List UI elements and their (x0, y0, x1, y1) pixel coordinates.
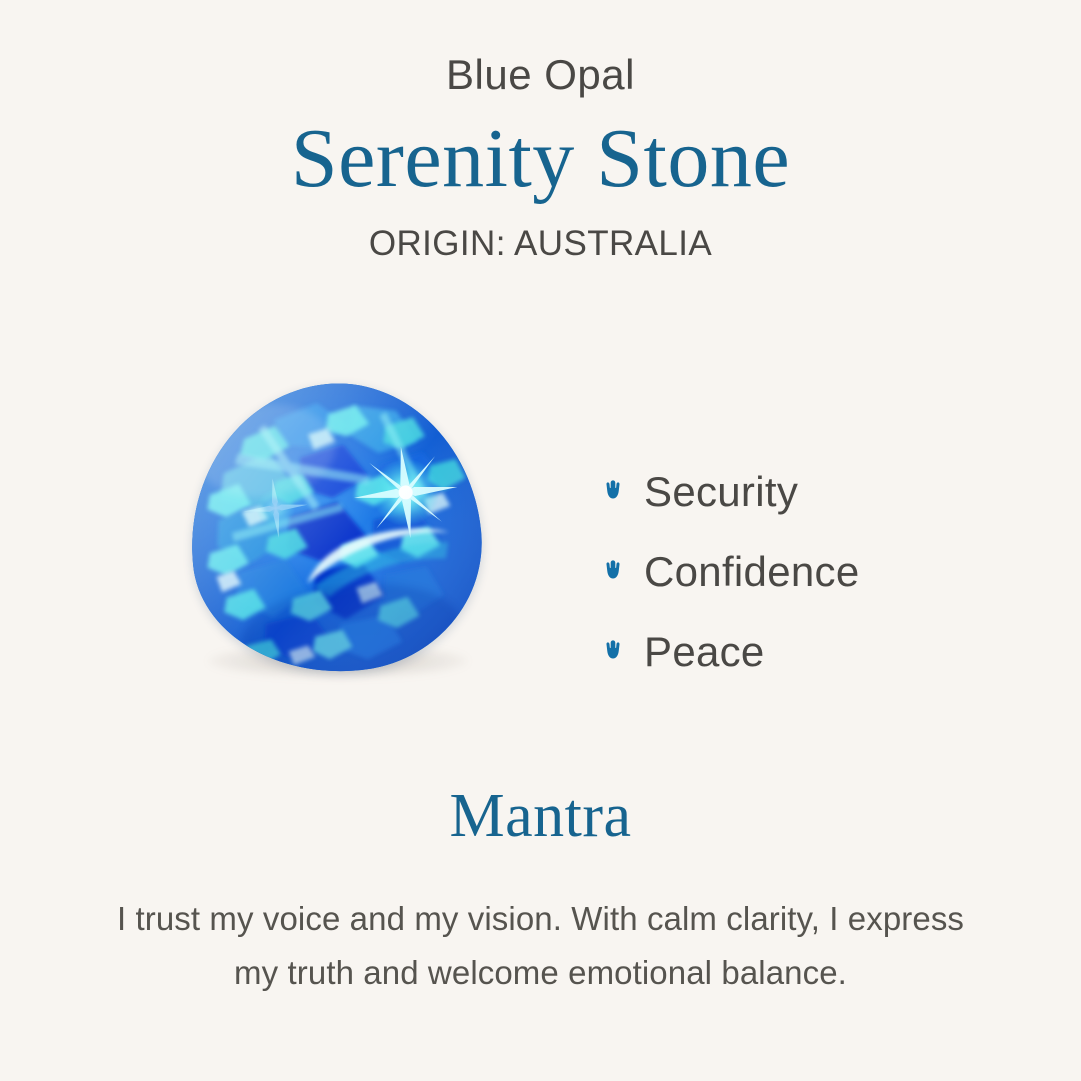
stone-and-properties-section: Security Confidence Peace (0, 372, 1081, 712)
list-item: Security (600, 452, 1020, 532)
property-label: Confidence (644, 548, 859, 596)
stone-properties-list: Security Confidence Peace (600, 452, 1020, 692)
gemstone-info-card: Blue Opal Serenity Stone ORIGIN: AUSTRAL… (0, 0, 1081, 1081)
hamsa-hand-icon (600, 477, 626, 507)
mantra-text: I trust my voice and my vision. With cal… (106, 892, 976, 999)
list-item: Peace (600, 612, 1020, 692)
hamsa-hand-icon (600, 637, 626, 667)
mantra-section: Mantra I trust my voice and my vision. W… (0, 782, 1081, 999)
stone-eyebrow-label: Blue Opal (0, 52, 1081, 98)
list-item: Confidence (600, 532, 1020, 612)
hamsa-hand-icon (600, 557, 626, 587)
property-label: Peace (644, 628, 765, 676)
blue-opal-gemstone (176, 370, 495, 687)
origin-label: ORIGIN: AUSTRALIA (0, 224, 1081, 264)
card-header: Blue Opal Serenity Stone ORIGIN: AUSTRAL… (0, 52, 1081, 264)
property-label: Security (644, 468, 798, 516)
gemstone-figure (178, 372, 498, 702)
page-title: Serenity Stone (0, 112, 1081, 206)
mantra-heading: Mantra (0, 782, 1081, 850)
